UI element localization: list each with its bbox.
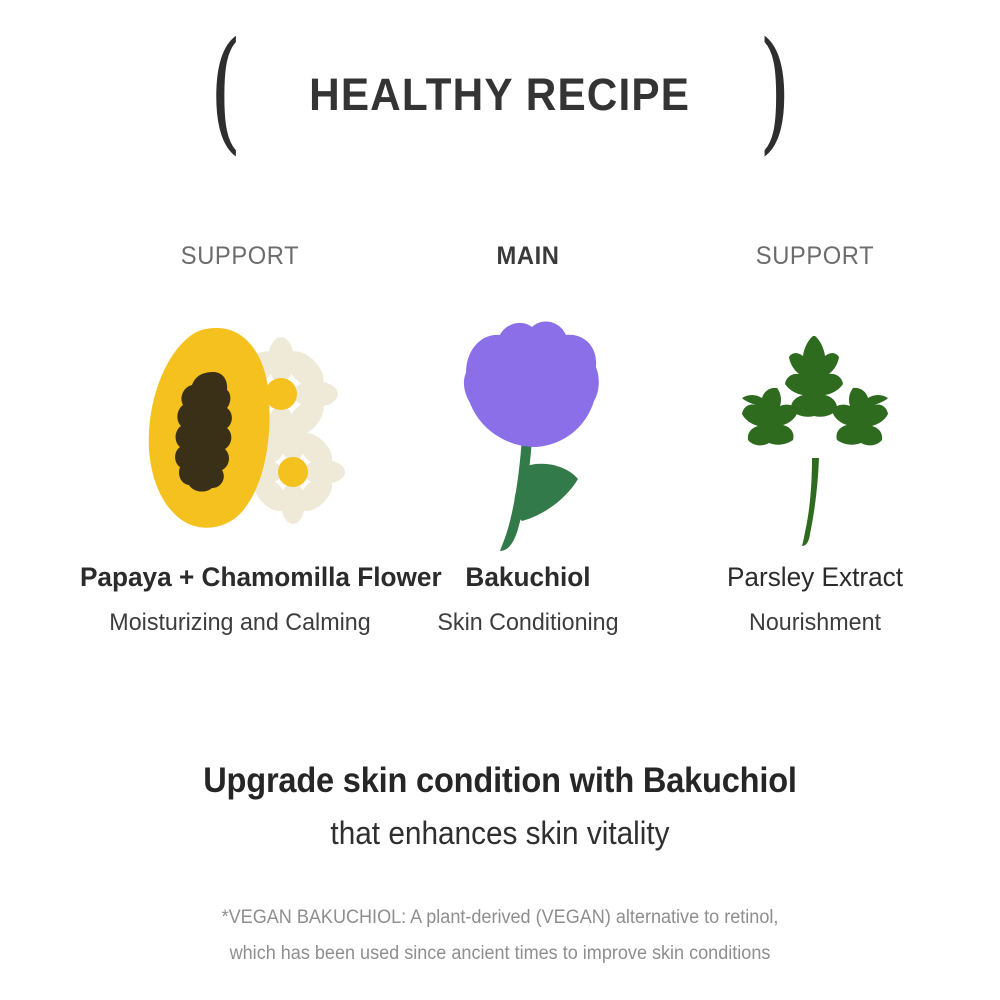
ingredient-benefit: Skin Conditioning (368, 606, 688, 640)
headline-primary: Upgrade skin condition with Bakuchiol (35, 757, 965, 805)
ingredient-benefit: Nourishment (655, 606, 975, 640)
purple-flower-icon (363, 310, 693, 560)
right-parenthesis-decoration: ) (758, 25, 790, 157)
ingredient-name: Parsley Extract (655, 560, 975, 594)
parsley-leaf-icon (650, 310, 980, 560)
ingredient-benefit: Moisturizing and Calming (80, 606, 400, 640)
ingredient-role-label: MAIN (371, 240, 685, 272)
page-title-block: ( HEALTHY RECIPE ) (0, 40, 1000, 150)
footnote-line-1: *VEGAN BAKUCHIOL: A plant-derived (VEGAN… (25, 900, 975, 936)
page-title: HEALTHY RECIPE (310, 69, 691, 121)
ingredient-column-papaya: SUPPORT (75, 240, 405, 640)
ingredient-name: Papaya + Chamomilla Flower (80, 560, 400, 594)
headline-secondary: that enhances skin vitality (35, 810, 965, 856)
papaya-chamomile-icon (75, 310, 405, 560)
ingredient-role-label: SUPPORT (83, 240, 397, 272)
ingredient-column-parsley: SUPPORT Parsley Extract Nourishment (650, 240, 980, 640)
ingredient-name: Bakuchiol (368, 560, 688, 594)
footnote-block: *VEGAN BAKUCHIOL: A plant-derived (VEGAN… (25, 900, 975, 972)
ingredient-column-bakuchiol: MAIN Bakuchiol Skin Conditioning (363, 240, 693, 640)
left-parenthesis-decoration: ( (210, 25, 242, 157)
ingredient-columns: SUPPORT (0, 240, 1000, 660)
headline-block: Upgrade skin condition with Bakuchiol th… (0, 757, 1000, 856)
footnote-line-2: which has been used since ancient times … (25, 936, 975, 972)
ingredient-role-label: SUPPORT (658, 240, 972, 272)
